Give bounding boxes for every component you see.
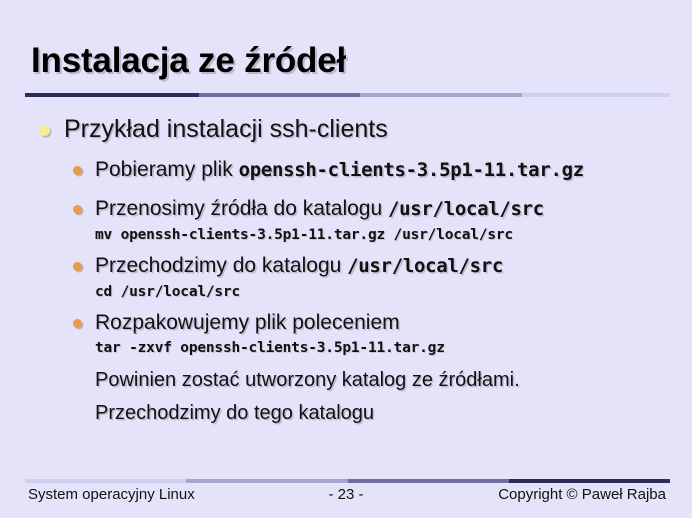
footer-copyright: Copyright © Paweł Rajba <box>498 486 666 503</box>
rule-segment-4 <box>509 479 670 483</box>
bullet-level2-label: Przenosimy źródła do katalogu <box>95 197 388 220</box>
note-line-1: Powinien zostać utworzony katalog ze źró… <box>0 364 692 397</box>
slide-content: Przykład instalacji ssh-clients Pobieram… <box>0 112 692 430</box>
rule-segment-2 <box>199 93 360 97</box>
bullet-level2-mono: /usr/local/src <box>388 198 544 220</box>
rule-segment-1 <box>25 93 199 97</box>
bullet-level1: Przykład instalacji ssh-clients <box>0 112 692 146</box>
note-line-2: Przechodzimy do tego katalogu <box>0 397 692 430</box>
bullet-level2-label: Pobieramy plik <box>95 158 239 181</box>
bullet-dot-icon <box>73 205 82 214</box>
command-line-1: mv openssh-clients-3.5p1-11.tar.gz /usr/… <box>0 224 692 246</box>
rule-segment-3 <box>360 93 521 97</box>
bullet-level1-label: Przykład instalacji ssh-clients <box>64 115 388 143</box>
bullet-level2-label: Przechodzimy do katalogu <box>95 254 347 277</box>
bullet-level2-mono: /usr/local/src <box>347 255 503 277</box>
command-line-2: cd /usr/local/src <box>0 281 692 303</box>
bullet-level2-item-4: Rozpakowujemy plik poleceniem <box>0 308 692 337</box>
slide-footer: System operacyjny Linux - 23 - Copyright… <box>0 486 692 508</box>
bullet-dot-icon <box>73 166 82 175</box>
rule-segment-3 <box>348 479 509 483</box>
rule-segment-4 <box>522 93 670 97</box>
bullet-level2-label: Rozpakowujemy plik poleceniem <box>95 311 400 334</box>
footer-divider-rule <box>25 479 670 483</box>
bullet-level2-item-2: Przenosimy źródła do katalogu /usr/local… <box>0 194 692 224</box>
title-divider-rule <box>25 93 670 97</box>
bullet-dot-icon <box>39 125 50 136</box>
spacer <box>0 146 692 155</box>
bullet-level2-item-3: Przechodzimy do katalogu /usr/local/src <box>0 251 692 281</box>
spacer <box>0 185 692 194</box>
rule-segment-1 <box>25 479 186 483</box>
command-line-3: tar -zxvf openssh-clients-3.5p1-11.tar.g… <box>0 337 692 359</box>
bullet-level2-item-1: Pobieramy plik openssh-clients-3.5p1-11.… <box>0 155 692 185</box>
bullet-dot-icon <box>73 319 82 328</box>
page-title: Instalacja ze źródeł <box>31 41 346 81</box>
bullet-level2-mono: openssh-clients-3.5p1-11.tar.gz <box>239 159 584 181</box>
bullet-dot-icon <box>73 262 82 271</box>
rule-segment-2 <box>186 479 347 483</box>
slide: Instalacja ze źródeł Przykład instalacji… <box>0 0 692 518</box>
